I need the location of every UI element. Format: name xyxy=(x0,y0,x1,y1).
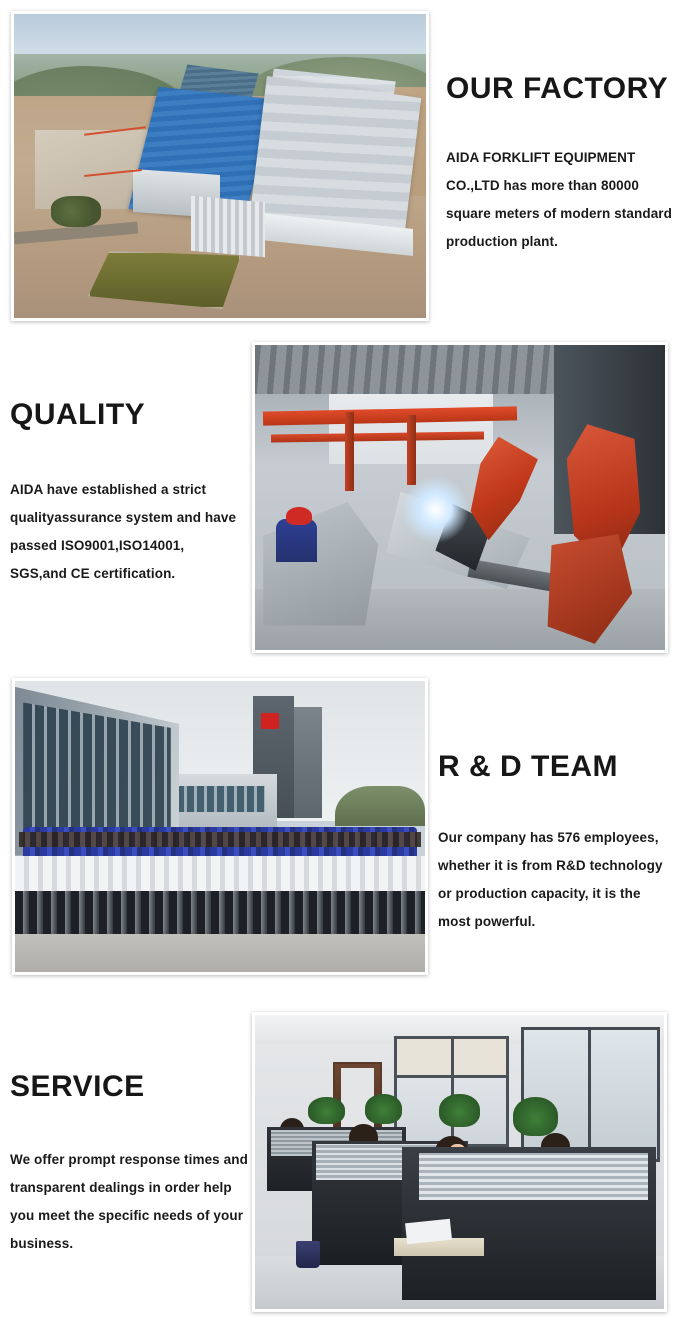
factory-photo-canvas xyxy=(14,14,426,318)
staff-row-white-shirts xyxy=(15,856,425,894)
service-photo xyxy=(252,1012,667,1312)
red-column-b xyxy=(407,415,416,485)
grey-factory-roof xyxy=(250,76,421,238)
factory-body: AIDA FORKLIFT EQUIPMENT CO.,LTD has more… xyxy=(446,144,672,256)
rd-team-body: Our company has 576 employees, whether i… xyxy=(438,824,674,936)
worker-body xyxy=(276,519,317,562)
quality-body: AIDA have established a strict qualityas… xyxy=(10,476,242,588)
service-body: We offer prompt response times and trans… xyxy=(10,1146,252,1258)
quality-heading: QUALITY xyxy=(10,398,242,432)
welding-arc-flash xyxy=(403,476,469,543)
background-hills xyxy=(335,786,425,827)
brochure-page: OUR FACTORY AIDA FORKLIFT EQUIPMENT CO.,… xyxy=(0,0,680,1341)
potted-plant-3 xyxy=(439,1094,480,1126)
worker-helmet xyxy=(286,507,313,525)
factory-photo xyxy=(11,11,429,321)
quality-photo xyxy=(252,342,668,653)
service-photo-canvas xyxy=(255,1015,664,1309)
office-building-b xyxy=(191,196,265,257)
service-text-block: SERVICE We offer prompt response times a… xyxy=(10,1070,252,1258)
tree-cluster xyxy=(51,196,100,226)
office-window-left xyxy=(394,1036,509,1148)
quality-text-block: QUALITY AIDA have established a strict q… xyxy=(10,398,242,588)
rd-team-photo-canvas xyxy=(15,681,425,972)
quality-photo-canvas xyxy=(255,345,665,650)
potted-plant-1 xyxy=(308,1097,345,1123)
cubicle-near-glass-panel xyxy=(419,1153,648,1200)
red-column-a xyxy=(345,412,354,491)
rd-team-text-block: R & D TEAM Our company has 576 employees… xyxy=(438,750,674,936)
courtyard-ground xyxy=(15,931,425,972)
potted-plant-2 xyxy=(365,1094,402,1123)
waste-bin xyxy=(296,1241,321,1267)
service-heading: SERVICE xyxy=(10,1070,252,1104)
factory-text-block: OUR FACTORY AIDA FORKLIFT EQUIPMENT CO.,… xyxy=(446,72,672,256)
company-logo-sign xyxy=(261,713,279,729)
staff-row-trousers xyxy=(15,891,425,935)
factory-heading: OUR FACTORY xyxy=(446,72,672,106)
rd-team-photo xyxy=(12,678,428,975)
rd-team-heading: R & D TEAM xyxy=(438,750,674,784)
staff-heads-row xyxy=(19,832,421,847)
potted-plant-4 xyxy=(513,1097,558,1135)
mid-building-glass xyxy=(167,786,265,812)
